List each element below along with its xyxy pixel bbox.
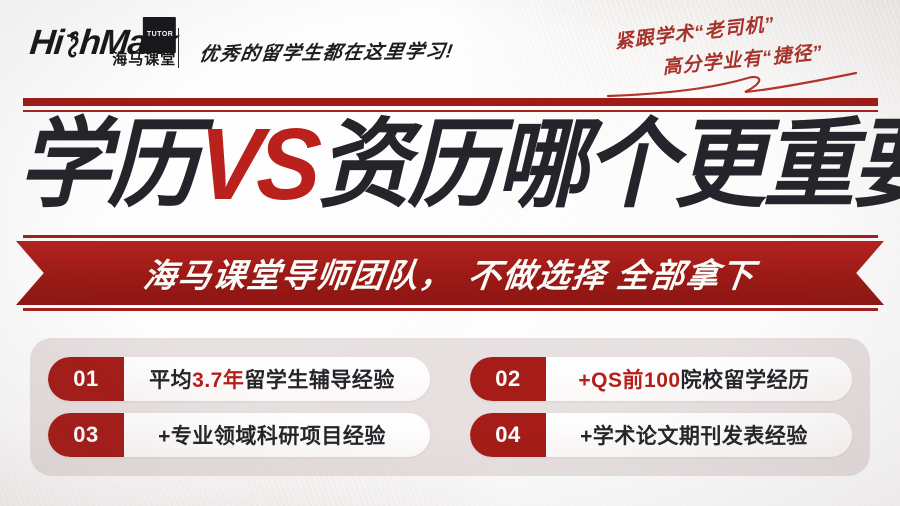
feature-number-badge: 01 [48,357,124,401]
ribbon-accent-line-bottom [23,308,878,311]
feature-number-badge: 02 [470,357,546,401]
ribbon-text-left: 海马课堂导师团队， [142,257,457,294]
feature-label-post: 留学生辅导经验 [244,369,395,392]
ribbon-banner: 海马课堂导师团队，不做选择 全部拿下 [16,241,884,305]
logo-wordmark-pre: Hi [28,23,65,62]
headline-vs: VS [194,114,321,216]
features-list: 01 平均3.7年留学生辅导经验 02 +QS前100院校留学经历 03 +专业… [30,338,870,476]
feature-item[interactable]: 01 平均3.7年留学生辅导经验 [48,357,430,401]
brand-logo: Hi hMark TUTOR 海马课堂 [30,26,177,60]
feature-number-badge: 03 [48,413,124,457]
feature-label: +QS前100院校留学经历 [546,364,852,394]
ribbon-text: 海马课堂导师团队，不做选择 全部拿下 [141,249,758,297]
brand-tagline: 优秀的留学生都在这里学习! [198,36,456,66]
promo-banner: Hi hMark TUTOR 海马课堂 优秀的留学生都在这里学习! 紧跟学术“老… [0,0,900,506]
logo-chinese-name: 海马课堂 [112,43,176,77]
headline-part-2: 资历哪个更重要 [318,114,900,216]
feature-label: +学术论文期刊发表经验 [546,420,852,450]
feature-item[interactable]: 03 +专业领域科研项目经验 [48,413,430,457]
logo-wordmark: Hi hMark TUTOR 海马课堂 [28,26,178,60]
feature-label-highlight: +QS前100 [578,369,680,392]
swoosh-underline-icon [606,72,858,98]
seahorse-icon [60,30,81,64]
main-headline: 学历VS资历哪个更重要 [18,109,886,221]
banner-header: Hi hMark TUTOR 海马课堂 优秀的留学生都在这里学习! 紧跟学术“老… [0,0,900,92]
feature-label-pre: 平均 [149,369,192,392]
feature-label-pre: +学术论文期刊发表经验 [580,425,808,448]
feature-label-post: 院校留学经历 [681,369,810,392]
ribbon-accent-line-top [23,235,878,238]
feature-label-highlight: 3.7年 [192,369,244,392]
feature-number-badge: 04 [470,413,546,457]
feature-label-pre: +专业领域科研项目经验 [158,425,386,448]
headline-rule-thick [23,98,878,106]
feature-item[interactable]: 02 +QS前100院校留学经历 [470,357,852,401]
logo-divider [178,28,179,68]
headline-part-1: 学历 [18,114,196,216]
handwritten-note: 紧跟学术“老司机” 高分学业有“捷径” [576,16,876,86]
feature-label: 平均3.7年留学生辅导经验 [124,364,430,394]
ribbon-text-right: 不做选择 全部拿下 [466,257,757,294]
feature-label: +专业领域科研项目经验 [124,420,430,450]
feature-item[interactable]: 04 +学术论文期刊发表经验 [470,413,852,457]
